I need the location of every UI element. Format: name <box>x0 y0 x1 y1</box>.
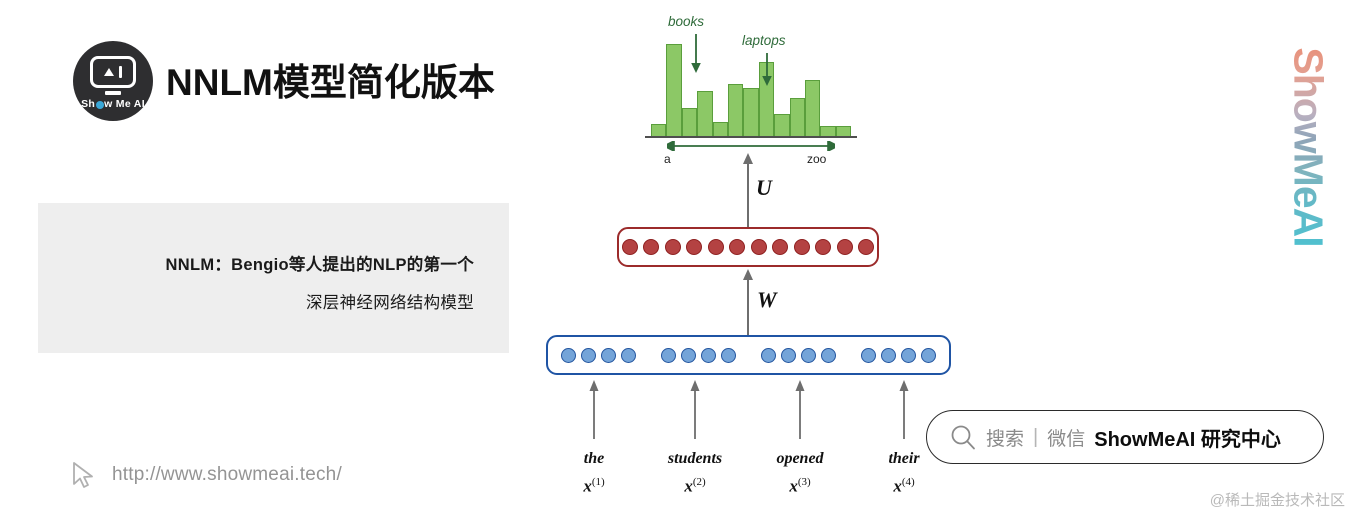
input-vector-2-label: x(2) <box>640 476 750 497</box>
hidden-layer-node <box>643 239 659 255</box>
embedding-node <box>861 348 876 363</box>
chart-tick-label-right: zoo <box>807 152 826 166</box>
input-vector-4-var: x <box>893 477 902 496</box>
hidden-layer-node <box>708 239 724 255</box>
annotation-down-arrow-icon <box>761 53 773 87</box>
chart-bar <box>728 84 743 136</box>
embedding-node <box>721 348 736 363</box>
logo-wordmark-right: w Me AI <box>104 98 145 110</box>
description-panel: NNLM：Bengio等人提出的NLP的第一个 深层神经网络结构模型 <box>38 203 509 353</box>
embedding-group <box>561 348 636 363</box>
robot-neck-shape <box>105 91 121 95</box>
chart-bar <box>713 122 728 136</box>
embedding-node <box>801 348 816 363</box>
chart-annotation-books-label: books <box>668 14 704 29</box>
chart-annotation-laptops-label: laptops <box>742 33 786 48</box>
chart-bar <box>666 44 681 136</box>
robot-face-icon <box>90 56 136 88</box>
side-wordmark: ShowMeAI <box>1258 22 1358 272</box>
slide-canvas: Sh w Me AI NNLM模型简化版本 NNLM：Bengio等人提出的NL… <box>0 0 1361 518</box>
watermark: @稀土掘金技术社区 <box>1210 489 1345 510</box>
input-word-3-text: opened <box>745 450 855 468</box>
side-wordmark-text: ShowMeAI <box>1285 47 1332 246</box>
chart-axis-line <box>645 136 857 139</box>
annotation-down-arrow-icon <box>690 34 702 74</box>
chart-bar <box>743 88 758 136</box>
input-word-3: opened x(3) <box>745 450 855 497</box>
input-vector-1-label: x(1) <box>539 476 649 497</box>
search-icon <box>949 423 977 451</box>
chart-tick-label-left: a <box>664 152 671 166</box>
vocabulary-range-arrow <box>667 141 835 151</box>
hidden-layer-node <box>858 239 874 255</box>
chart-bar <box>682 108 697 136</box>
chart-bar <box>836 126 851 136</box>
description-line-2: 深层神经网络结构模型 <box>38 289 509 313</box>
description-line-1: NNLM：Bengio等人提出的NLP的第一个 <box>38 251 509 275</box>
search-brand-text: ShowMeAI 研究中心 <box>1094 423 1281 452</box>
globe-icon <box>96 101 104 109</box>
input-word-2-text: students <box>640 450 750 468</box>
show-me-ai-robot-logo: Sh w Me AI <box>73 41 153 121</box>
robot-eye-bar-icon <box>119 66 123 78</box>
search-separator: | <box>1033 426 1038 449</box>
embedding-layer <box>546 335 951 375</box>
input-word-1-text: the <box>539 450 649 468</box>
input-vector-3-sup: (3) <box>798 476 811 488</box>
chart-annotation-books: books <box>668 14 704 29</box>
embedding-node <box>581 348 596 363</box>
embedding-node <box>761 348 776 363</box>
search-channel: 微信 <box>1047 424 1085 451</box>
weight-label-u: U <box>756 175 772 201</box>
input-vector-3-var: x <box>789 477 798 496</box>
footer-url-block[interactable]: http://www.showmeai.tech/ <box>70 460 342 490</box>
embedding-node <box>681 348 696 363</box>
footer-url-text: http://www.showmeai.tech/ <box>112 464 342 486</box>
input-word-2: students x(2) <box>640 450 750 497</box>
hidden-layer-node <box>622 239 638 255</box>
hidden-layer-node <box>686 239 702 255</box>
hidden-layer-node <box>794 239 810 255</box>
arrow-input-1 <box>588 379 600 439</box>
hidden-layer-node <box>729 239 745 255</box>
embedding-group <box>861 348 936 363</box>
chart-annotation-laptops: laptops <box>742 33 786 48</box>
input-vector-2-sup: (2) <box>693 476 706 488</box>
chart-bar <box>805 80 820 136</box>
input-vector-2-var: x <box>684 477 693 496</box>
robot-eye-caret-icon <box>104 68 114 76</box>
embedding-node <box>561 348 576 363</box>
cursor-arrow-icon <box>70 460 98 490</box>
chart-bar <box>697 91 712 136</box>
input-vector-1-var: x <box>583 477 592 496</box>
embedding-node <box>621 348 636 363</box>
chart-bar <box>820 126 835 136</box>
hidden-layer-node <box>772 239 788 255</box>
arrow-input-3 <box>794 379 806 439</box>
hidden-layer-node <box>665 239 681 255</box>
embedding-node <box>921 348 936 363</box>
embedding-node <box>701 348 716 363</box>
embedding-group <box>661 348 736 363</box>
chart-bar <box>651 124 666 136</box>
embedding-node <box>661 348 676 363</box>
input-vector-4-label: x(4) <box>849 476 959 497</box>
logo-wordmark: Sh w Me AI <box>81 98 145 110</box>
page-title: NNLM模型简化版本 <box>166 52 495 106</box>
embedding-node <box>881 348 896 363</box>
weight-label-w: W <box>757 287 777 313</box>
input-vector-4-sup: (4) <box>902 476 915 488</box>
chart-bars <box>651 44 851 136</box>
arrow-embedding-to-hidden <box>742 268 754 338</box>
input-vector-1-sup: (1) <box>592 476 605 488</box>
logo-wordmark-left: Sh <box>81 98 95 110</box>
wechat-search-pill[interactable]: 搜索 | 微信 ShowMeAI 研究中心 <box>926 410 1324 464</box>
hidden-layer-node <box>815 239 831 255</box>
embedding-node <box>901 348 916 363</box>
arrow-hidden-to-output <box>742 152 754 230</box>
input-vector-3-label: x(3) <box>745 476 855 497</box>
chart-bar <box>774 114 789 136</box>
hidden-layer <box>617 227 879 267</box>
search-placeholder: 搜索 <box>986 424 1024 451</box>
hidden-layer-node <box>837 239 853 255</box>
embedding-node <box>601 348 616 363</box>
hidden-layer-node <box>751 239 767 255</box>
arrow-input-2 <box>689 379 701 439</box>
embedding-node <box>821 348 836 363</box>
input-word-1: the x(1) <box>539 450 649 497</box>
chart-bar <box>790 98 805 136</box>
embedding-node <box>781 348 796 363</box>
arrow-input-4 <box>898 379 910 439</box>
embedding-group <box>761 348 836 363</box>
